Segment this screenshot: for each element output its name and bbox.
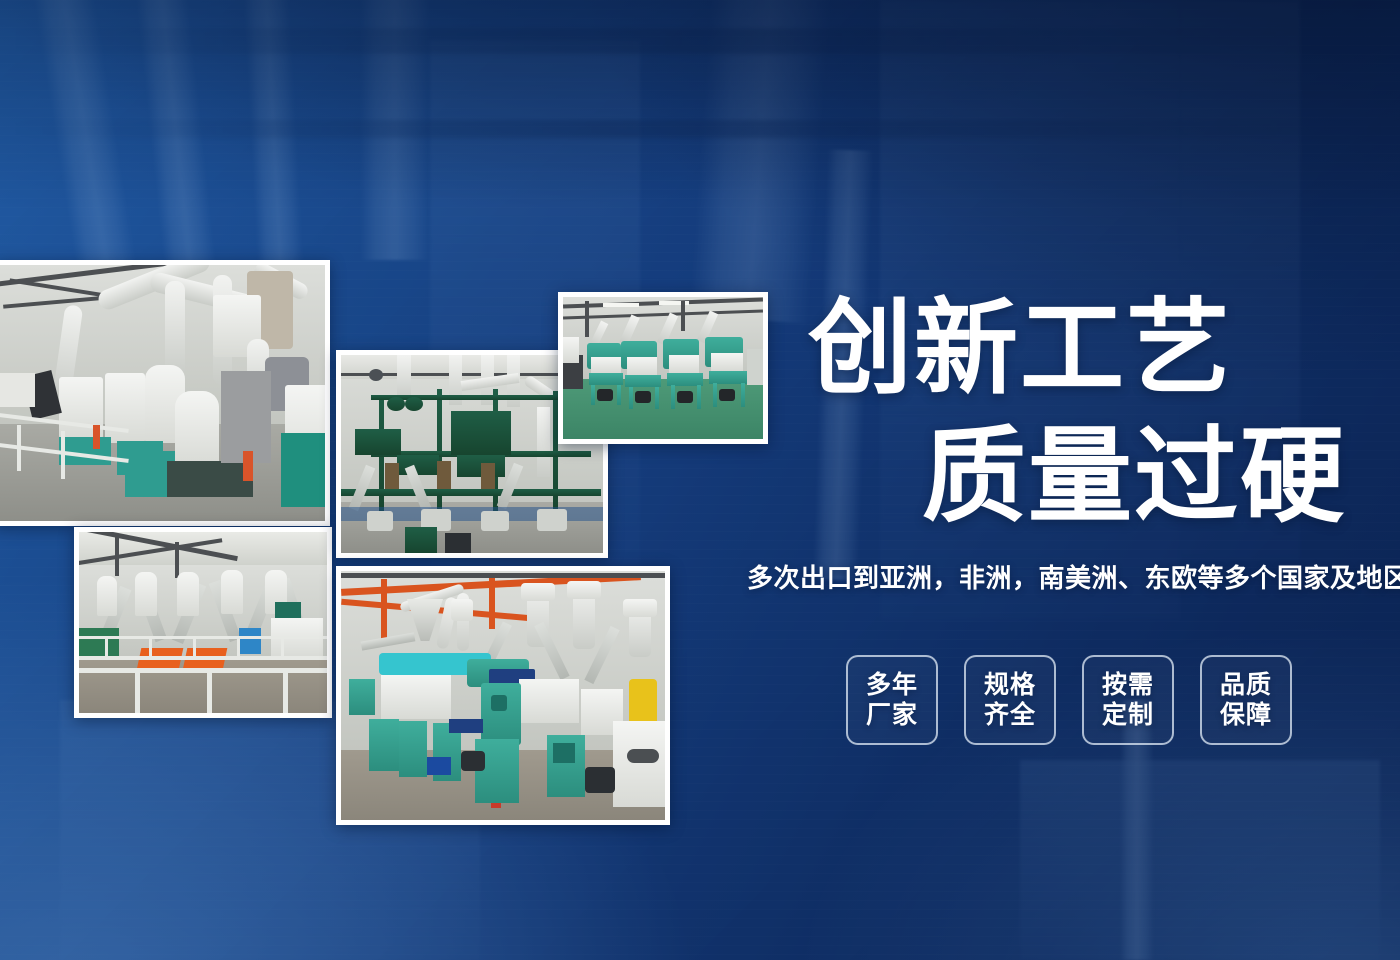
photo-conveyor-workshop-scene [79, 532, 327, 713]
feature-badge-specs-bottom: 齐全 [984, 700, 1036, 730]
feature-badge-quality-top: 品质 [1220, 670, 1272, 700]
photo-conveyor-workshop [74, 527, 332, 718]
feature-badge-years-top: 多年 [866, 670, 918, 700]
headline-line-1: 创新工艺 [808, 296, 1232, 400]
feature-badge-quality-bottom: 保障 [1220, 700, 1272, 730]
feature-badge-custom[interactable]: 按需 定制 [1082, 655, 1174, 745]
subtitle-export-markets: 多次出口到亚洲，非洲，南美洲、东欧等多个国家及地区 [747, 566, 1400, 592]
feature-badge-specs[interactable]: 规格 齐全 [964, 655, 1056, 745]
feature-badge-years[interactable]: 多年 厂家 [846, 655, 938, 745]
photo-complete-milling-plant [336, 566, 670, 825]
photo-complete-milling-plant-scene [341, 571, 665, 820]
feature-badge-specs-top: 规格 [984, 670, 1036, 700]
feature-badge-years-bottom: 厂家 [866, 700, 918, 730]
photo-teal-mill-row [558, 292, 768, 444]
photo-production-line-scene [0, 265, 325, 521]
headline-line-2: 质量过硬 [922, 424, 1346, 528]
feature-badge-custom-bottom: 定制 [1102, 700, 1154, 730]
photo-teal-mill-row-scene [563, 297, 763, 439]
feature-badge-custom-top: 按需 [1102, 670, 1154, 700]
promotional-banner: 创新工艺 质量过硬 多次出口到亚洲，非洲，南美洲、东欧等多个国家及地区 多年 厂… [0, 0, 1400, 960]
photo-production-line [0, 260, 330, 526]
feature-badge-list: 多年 厂家 规格 齐全 按需 定制 品质 保障 [846, 655, 1292, 745]
feature-badge-quality[interactable]: 品质 保障 [1200, 655, 1292, 745]
